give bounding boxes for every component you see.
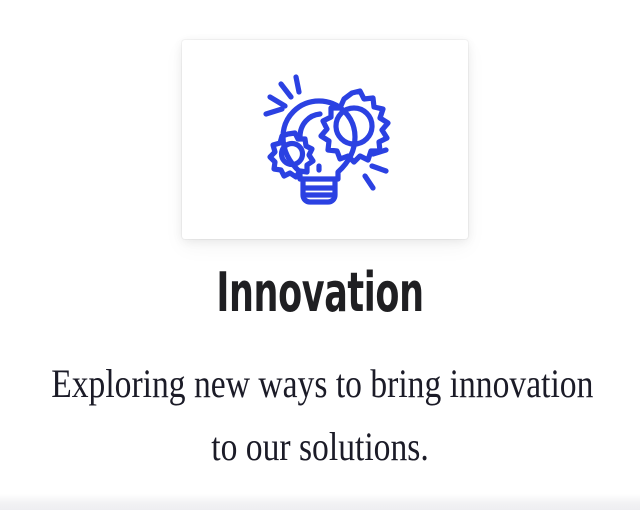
feature-description-line-1: Exploring new ways to bring innovation — [51, 352, 589, 415]
innovation-feature-card: Innovation Exploring new ways to bring i… — [0, 0, 640, 510]
feature-description-line-2: to our solutions. — [51, 415, 589, 478]
lightbulb-gears-icon — [252, 66, 402, 216]
feature-description: Exploring new ways to bring innovation t… — [51, 352, 589, 478]
feature-image-panel — [182, 40, 468, 239]
bottom-band — [0, 494, 640, 510]
feature-title: Innovation — [90, 264, 551, 322]
